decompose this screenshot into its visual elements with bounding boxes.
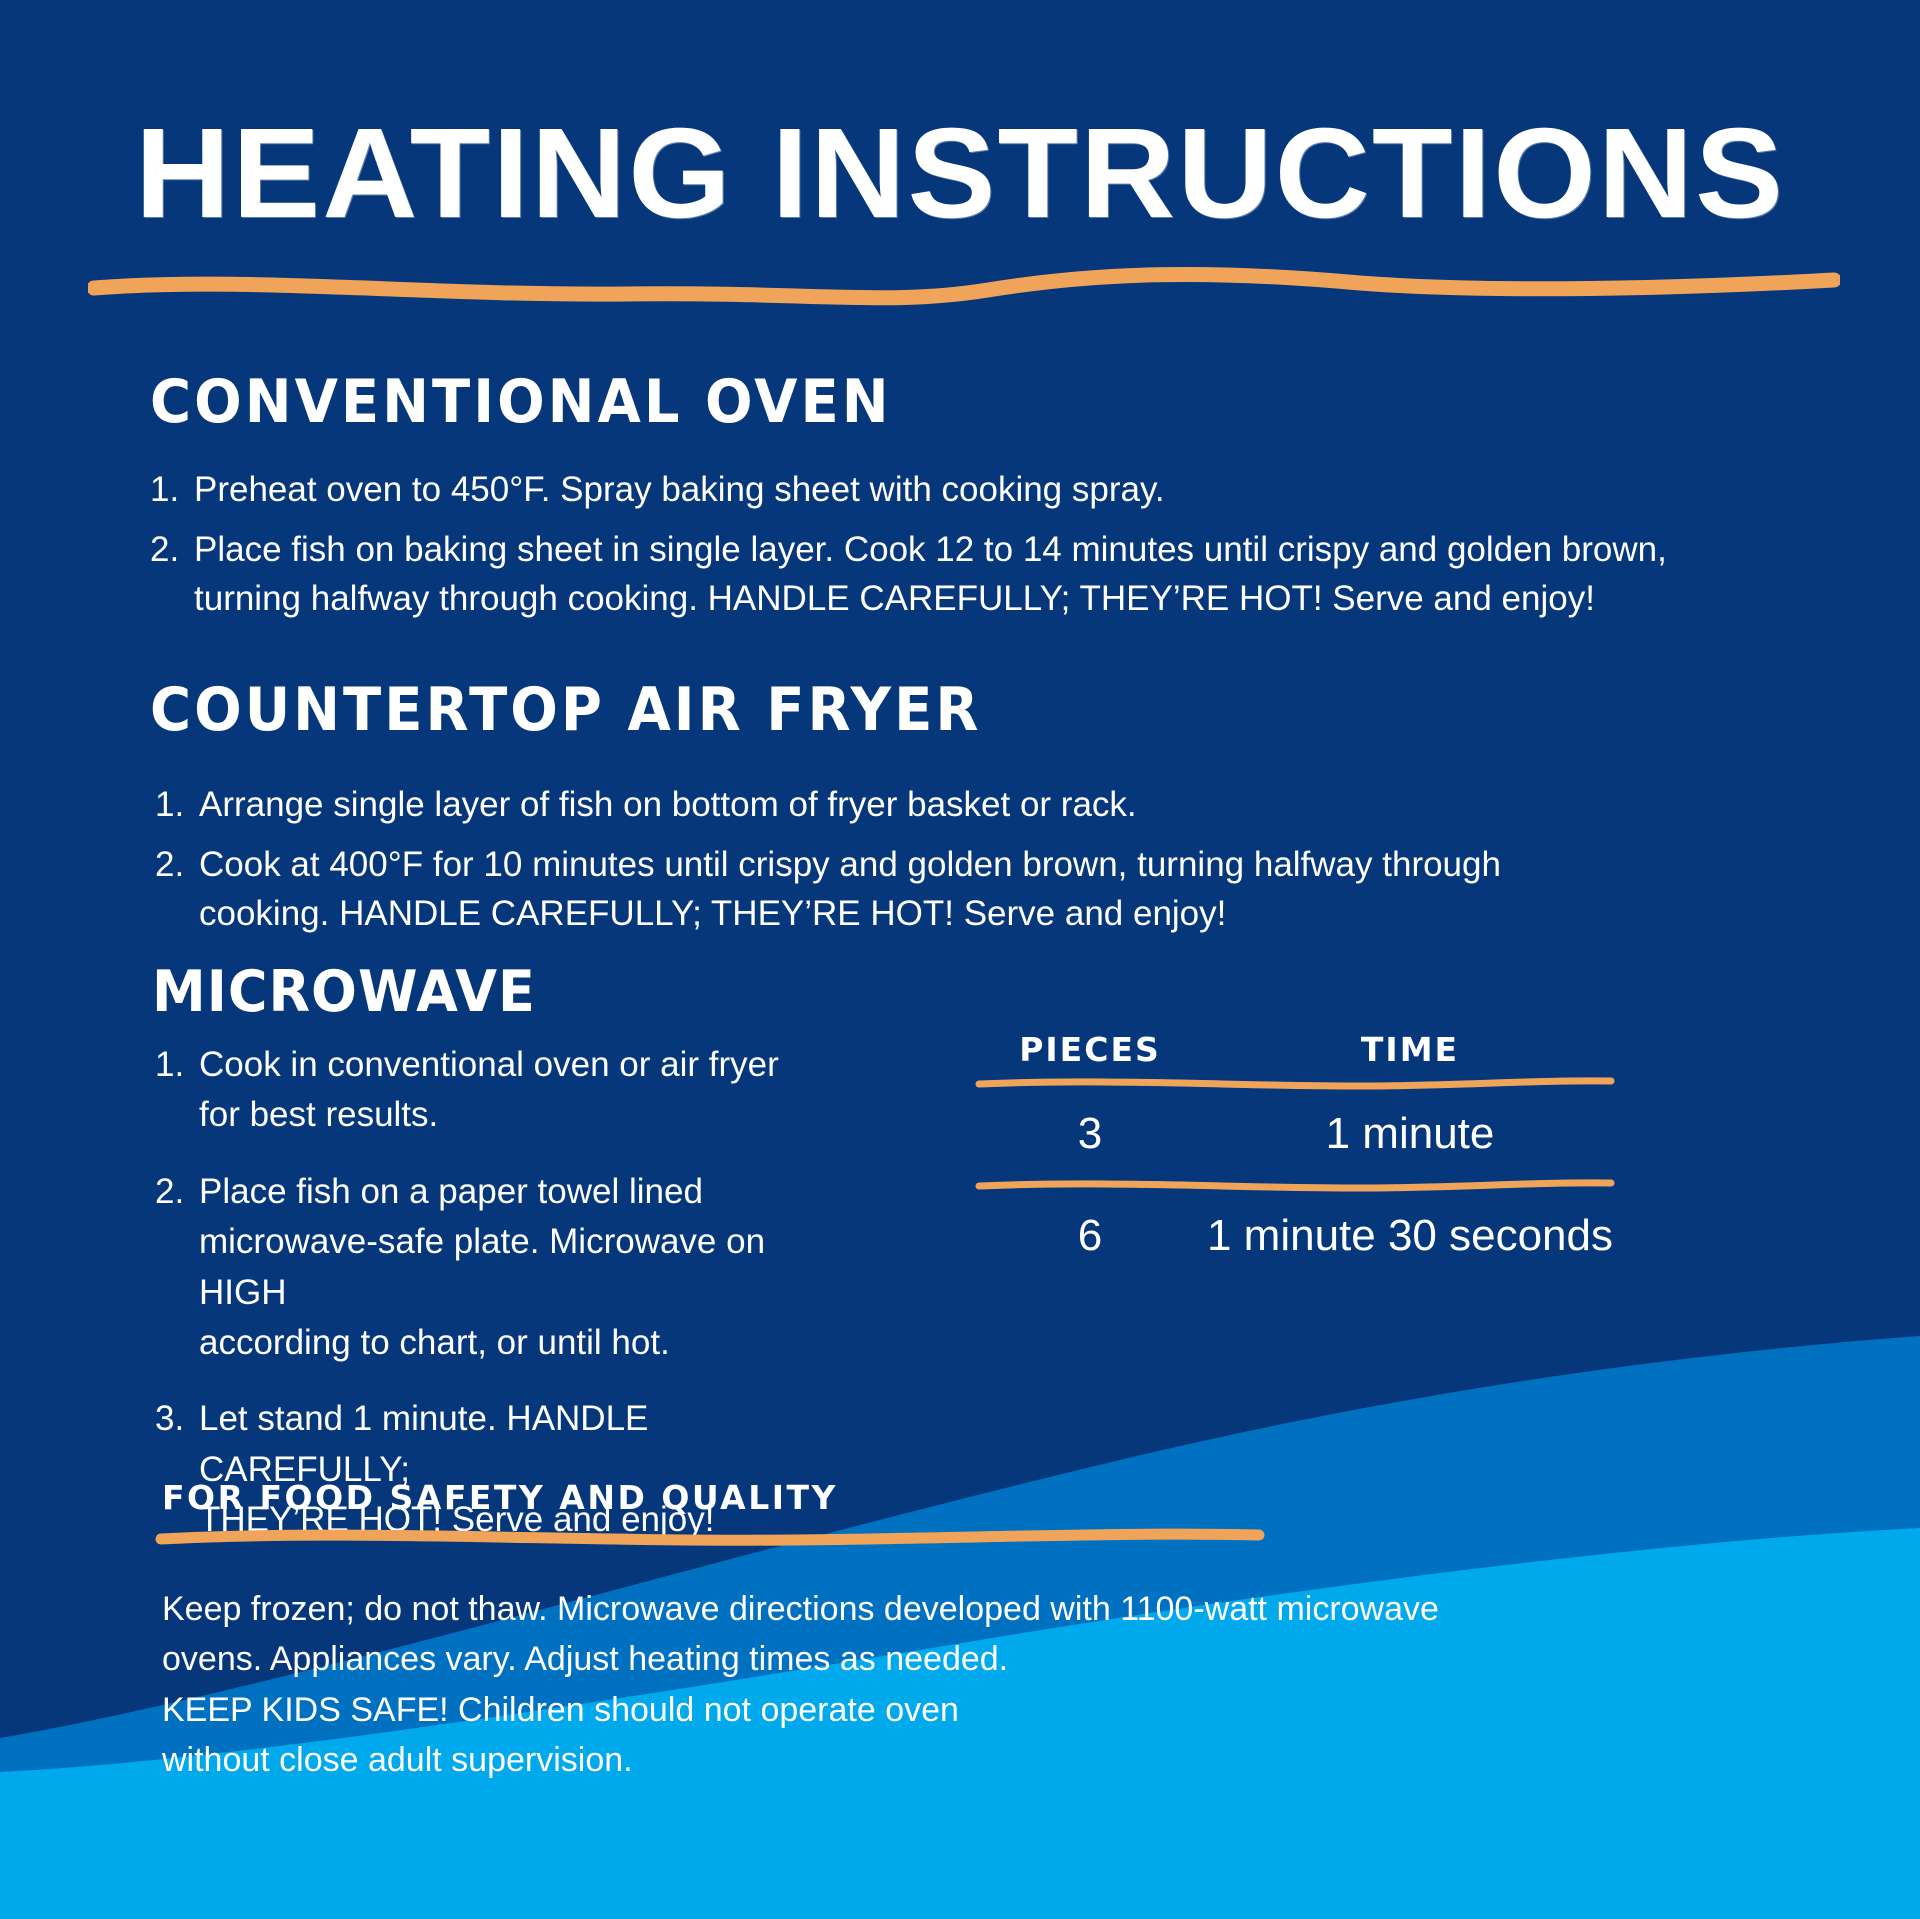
safety-line: KEEP KIDS SAFE! Children should not oper…	[162, 1685, 1562, 1735]
steps-conventional-oven: 1. Preheat oven to 450°F. Spray baking s…	[150, 465, 1850, 634]
step-line: Arrange single layer of fish on bottom o…	[199, 785, 1137, 824]
cell-time: 1 minute	[1205, 1109, 1615, 1159]
step-text: Preheat oven to 450°F. Spray baking shee…	[194, 465, 1850, 515]
step-line: turning halfway through cooking. HANDLE …	[194, 579, 1595, 618]
table-rule-wave	[975, 1075, 1615, 1091]
step-number: 2.	[150, 525, 194, 575]
step-item: 2. Cook at 400°F for 10 minutes until cr…	[155, 840, 1855, 939]
step-line: cooking. HANDLE CAREFULLY; THEY’RE HOT! …	[199, 894, 1226, 933]
cell-time: 1 minute 30 seconds	[1205, 1211, 1615, 1261]
column-header-pieces: PIECES	[975, 1030, 1205, 1069]
table-rule-wave	[975, 1177, 1615, 1193]
microwave-time-table: PIECES TIME 3 1 minute 6 1 minute 30 sec…	[975, 1030, 1615, 1279]
section-heading-conventional-oven: CONVENTIONAL OVEN	[150, 368, 892, 437]
step-item: 3. Let stand 1 minute. HANDLE CAREFULLY;…	[155, 1394, 855, 1545]
column-header-time: TIME	[1205, 1030, 1615, 1069]
cell-pieces: 3	[975, 1109, 1205, 1159]
step-item: 2. Place fish on baking sheet in single …	[150, 525, 1850, 624]
step-number: 2.	[155, 1167, 199, 1217]
step-text: Place fish on baking sheet in single lay…	[194, 525, 1850, 624]
page-title: HEATING INSTRUCTIONS	[0, 110, 1920, 238]
step-item: 2. Place fish on a paper towel lined mic…	[155, 1167, 855, 1369]
step-number: 3.	[155, 1394, 199, 1444]
step-number: 1.	[155, 780, 199, 830]
title-underline-wave	[88, 262, 1840, 306]
section-heading-countertop-air-fryer: COUNTERTOP AIR FRYER	[150, 676, 981, 745]
section-heading-food-safety: FOR FOOD SAFETY AND QUALITY	[162, 1478, 838, 1517]
step-item: 1. Cook in conventional oven or air frye…	[155, 1040, 855, 1141]
step-item: 1. Preheat oven to 450°F. Spray baking s…	[150, 465, 1850, 515]
safety-line: without close adult supervision.	[162, 1735, 1562, 1785]
section-heading-microwave: MICROWAVE	[152, 958, 536, 1025]
step-text: Place fish on a paper towel lined microw…	[199, 1167, 855, 1369]
steps-countertop-air-fryer: 1. Arrange single layer of fish on botto…	[155, 780, 1855, 949]
step-number: 1.	[155, 1040, 199, 1090]
table-row: 6 1 minute 30 seconds	[975, 1193, 1615, 1279]
step-line: Cook at 400°F for 10 minutes until crisp…	[199, 845, 1501, 884]
title-block: HEATING INSTRUCTIONS	[0, 110, 1920, 238]
step-line: Preheat oven to 450°F. Spray baking shee…	[194, 470, 1165, 509]
step-line: according to chart, or until hot.	[199, 1323, 670, 1362]
step-text: Cook at 400°F for 10 minutes until crisp…	[199, 840, 1855, 939]
table-header-row: PIECES TIME	[975, 1030, 1615, 1075]
heating-instructions-panel: HEATING INSTRUCTIONS CONVENTIONAL OVEN 1…	[0, 0, 1920, 1919]
step-line: Place fish on baking sheet in single lay…	[194, 530, 1667, 569]
step-text: Arrange single layer of fish on bottom o…	[199, 780, 1855, 830]
step-line: microwave-safe plate. Microwave on HIGH	[199, 1222, 765, 1311]
food-safety-body: Keep frozen; do not thaw. Microwave dire…	[162, 1584, 1562, 1785]
step-item: 1. Arrange single layer of fish on botto…	[155, 780, 1855, 830]
step-line: Cook in conventional oven or air fryer	[199, 1045, 779, 1084]
step-line: Let stand 1 minute. HANDLE CAREFULLY;	[199, 1399, 648, 1488]
step-line: Place fish on a paper towel lined	[199, 1172, 703, 1211]
cell-pieces: 6	[975, 1211, 1205, 1261]
step-line: for best results.	[199, 1095, 438, 1134]
step-text: Let stand 1 minute. HANDLE CAREFULLY; TH…	[199, 1394, 855, 1545]
step-number: 1.	[150, 465, 194, 515]
safety-line: Keep frozen; do not thaw. Microwave dire…	[162, 1584, 1562, 1634]
step-number: 2.	[155, 840, 199, 890]
safety-line: ovens. Appliances vary. Adjust heating t…	[162, 1634, 1562, 1684]
table-row: 3 1 minute	[975, 1091, 1615, 1177]
food-safety-underline-wave	[155, 1524, 1265, 1550]
step-text: Cook in conventional oven or air fryer f…	[199, 1040, 855, 1141]
